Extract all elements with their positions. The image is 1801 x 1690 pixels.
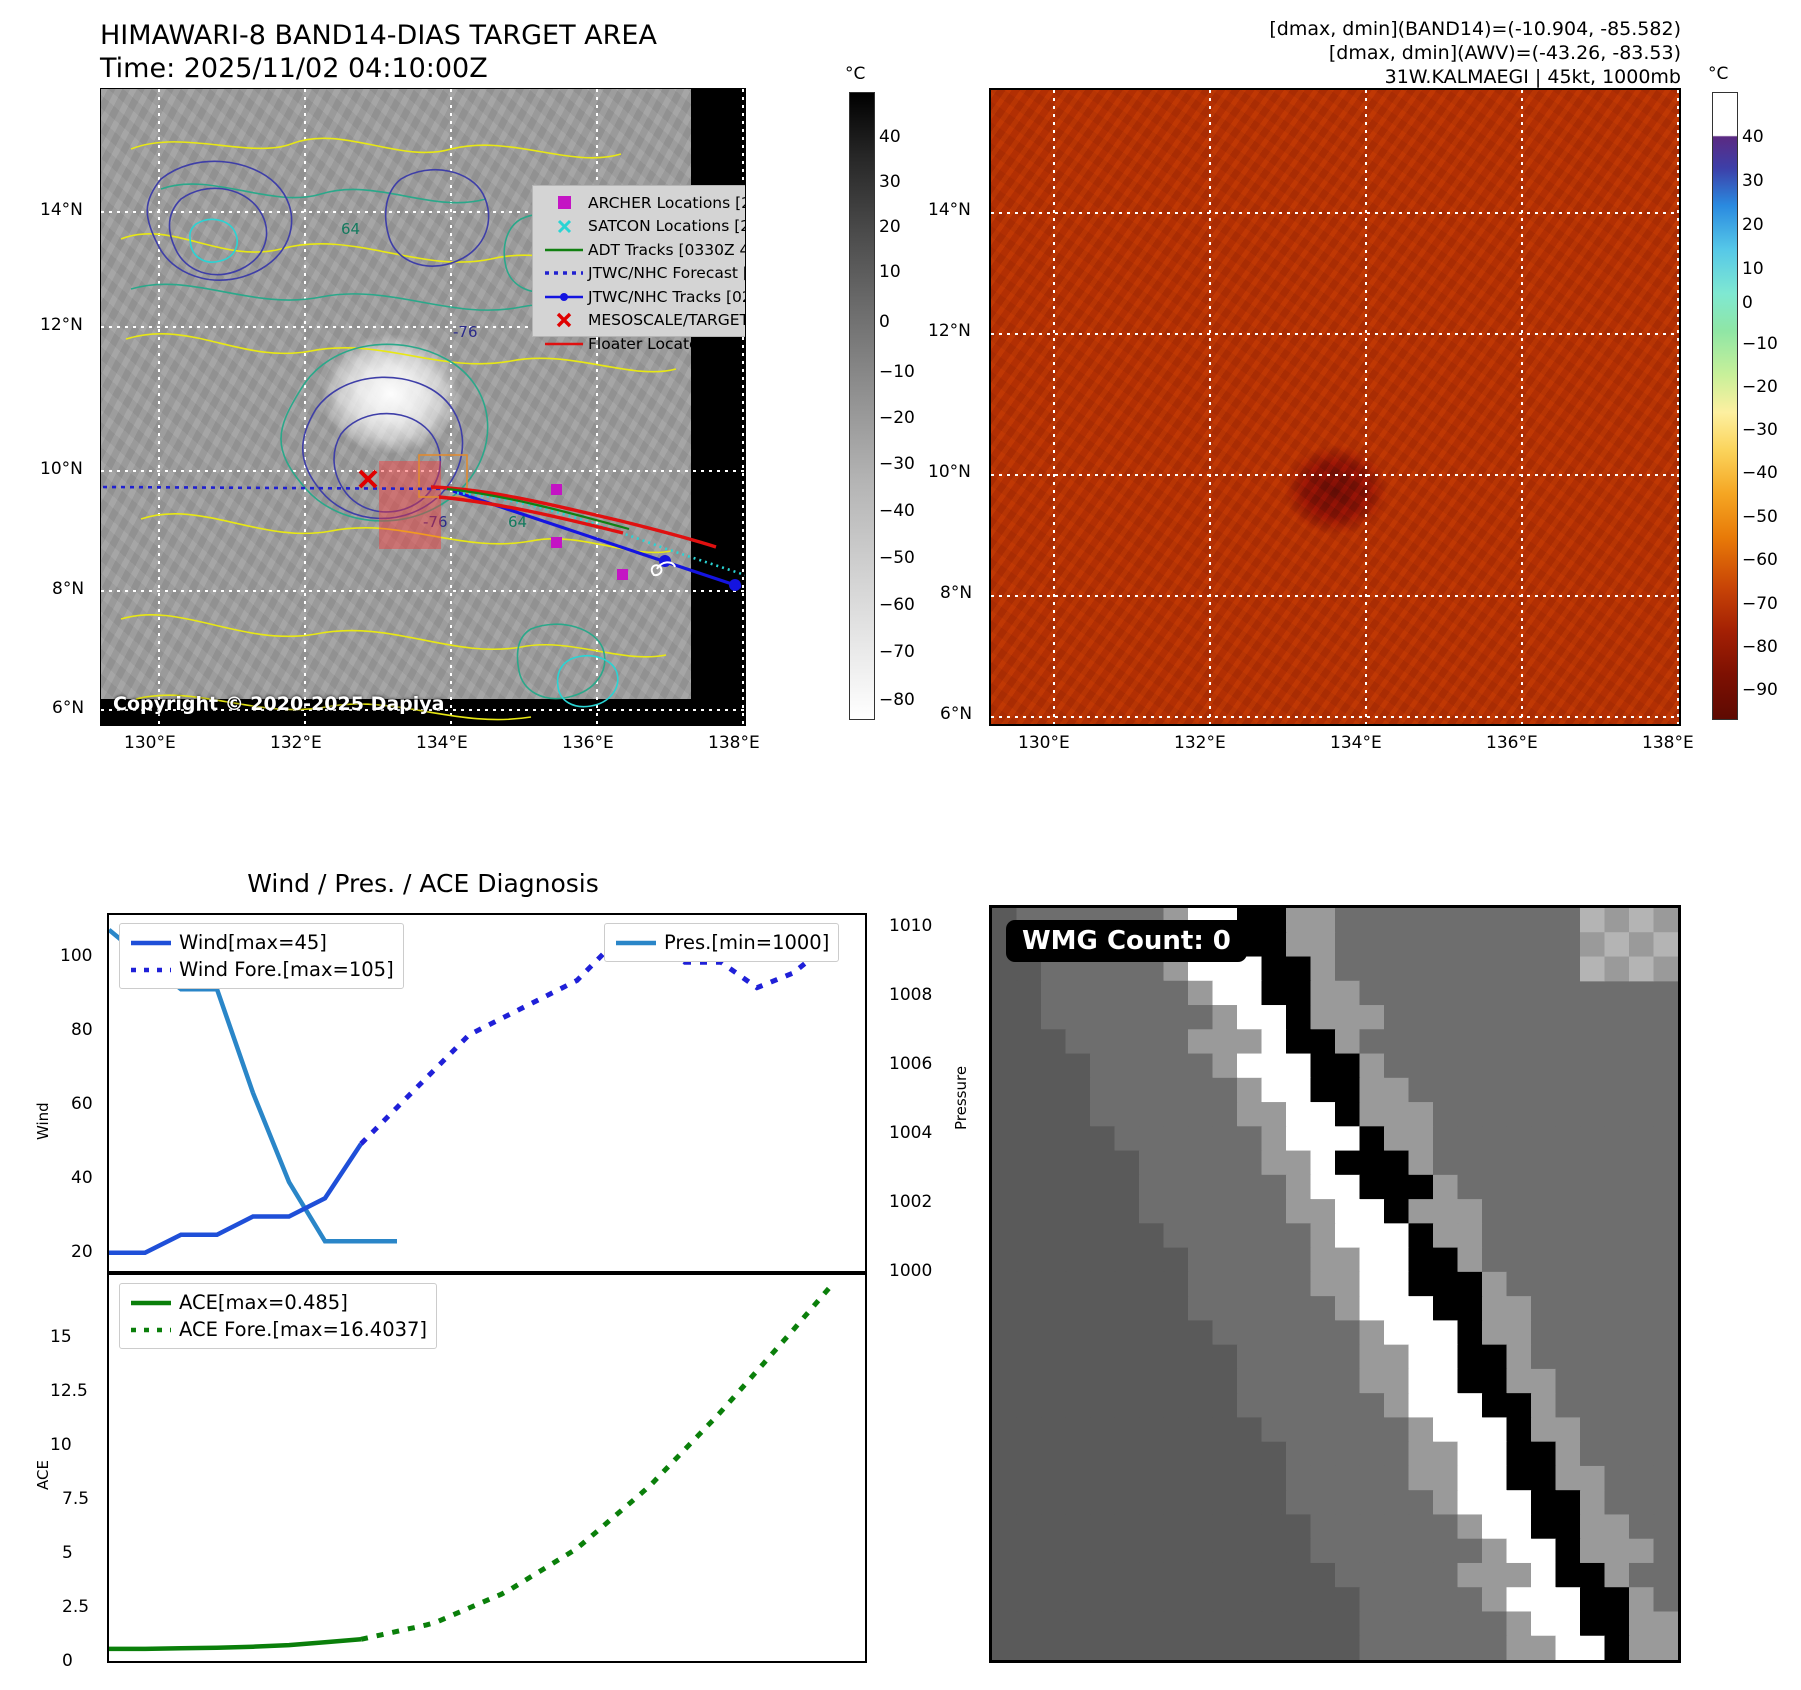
mesoscale-x-icon (540, 312, 588, 328)
ace-ytick-0: 0 (62, 1651, 73, 1671)
right-lat-tick-14n: 14°N (928, 200, 971, 220)
jtwc-forecast-dotted-icon (540, 268, 588, 278)
ir-greyscale-map[interactable]: -76 -76 64 64 (100, 88, 746, 726)
pres-ytick-1008: 1008 (889, 985, 932, 1005)
wind-ytick-60: 60 (71, 1094, 93, 1114)
archer-square-icon (540, 196, 588, 209)
ace-ytick-7_5: 7.5 (62, 1489, 89, 1509)
wind-chart-legend: Wind[max=45] Wind Fore.[max=105] (119, 923, 404, 989)
ace-chart-legend: ACE[max=0.485] ACE Fore.[max=16.4037] (119, 1283, 437, 1349)
color-ir-image (991, 90, 1679, 724)
wind-ytick-80: 80 (71, 1020, 93, 1040)
storm-info-text: 31W.KALMAEGI | 45kt, 1000mb (1385, 66, 1681, 88)
dashboard-root: HIMAWARI-8 BAND14-DIAS TARGET AREA Time:… (0, 0, 1801, 1690)
left-lat-tick-10n: 10°N (40, 459, 83, 479)
grey-cb-tick-m80: −80 (879, 690, 915, 710)
color-cb-tick-m80: −80 (1742, 637, 1778, 657)
legend-label-jtwc-forecast: JTWC/NHC Forecast [02/0000Z] (588, 264, 746, 282)
right-lat-tick-8n: 8°N (940, 583, 972, 603)
left-lon-tick-132e: 132°E (270, 733, 322, 753)
grey-cb-tick-m40: −40 (879, 501, 915, 521)
map-legend: ARCHER Locations [2140Z] SATCON Location… (532, 185, 746, 337)
page-title: HIMAWARI-8 BAND14-DIAS TARGET AREA (100, 20, 657, 51)
legend-label-floater: Floater Locater (588, 335, 705, 353)
color-colorbar-unit: °C (1708, 64, 1728, 84)
pres-ytick-1004: 1004 (889, 1123, 932, 1143)
right-lat-tick-6n: 6°N (940, 704, 972, 724)
wind-forecast-dotted-icon (129, 965, 179, 975)
grey-cb-tick-0: 0 (879, 312, 890, 332)
legend-label-mesoscale: MESOSCALE/TARGET Location (588, 311, 746, 329)
legend-item-mesoscale[interactable]: MESOSCALE/TARGET Location (540, 309, 746, 333)
legend-item-wind-forecast[interactable]: Wind Fore.[max=105] (129, 956, 394, 983)
right-lat-tick-10n: 10°N (928, 462, 971, 482)
grey-cb-tick-m60: −60 (879, 595, 915, 615)
pressure-chart-legend: Pres.[min=1000] (604, 923, 839, 962)
color-cb-tick-20: 20 (1742, 215, 1764, 235)
jtwc-tracks-line-icon (540, 291, 588, 303)
ace-ytick-12_5: 12.5 (50, 1381, 88, 1401)
color-cb-tick-m10: −10 (1742, 334, 1778, 354)
wmg-image (992, 908, 1678, 1660)
left-lon-tick-136e: 136°E (562, 733, 614, 753)
pressure-line-icon (614, 938, 664, 948)
legend-item-ace-forecast[interactable]: ACE Fore.[max=16.4037] (129, 1316, 427, 1343)
color-cb-tick-0: 0 (1742, 293, 1753, 313)
legend-label-wind: Wind[max=45] (179, 931, 327, 954)
grey-cb-tick-10: 10 (879, 262, 901, 282)
right-lat-tick-12n: 12°N (928, 321, 971, 341)
wind-ytick-20: 20 (71, 1242, 93, 1262)
left-lon-tick-130e: 130°E (124, 733, 176, 753)
copyright-text: Copyright © 2020-2025 Dapiya (113, 693, 444, 715)
legend-item-ace[interactable]: ACE[max=0.485] (129, 1289, 427, 1316)
left-lat-tick-8n: 8°N (52, 579, 84, 599)
legend-label-archer: ARCHER Locations [2140Z] (588, 194, 746, 212)
grey-cb-tick-m30: −30 (879, 454, 915, 474)
left-lat-tick-12n: 12°N (40, 315, 83, 335)
adt-line-icon (540, 245, 588, 255)
grey-cb-tick-m50: −50 (879, 548, 915, 568)
pres-ytick-1010: 1010 (889, 916, 932, 936)
wind-ytick-100: 100 (60, 946, 92, 966)
diagnosis-title: Wind / Pres. / ACE Diagnosis (100, 869, 746, 898)
wmg-panel[interactable]: WMG Count: 0 (989, 905, 1681, 1663)
color-cb-tick-30: 30 (1742, 171, 1764, 191)
color-enhanced-map[interactable] (989, 88, 1681, 726)
wind-line-icon (129, 938, 179, 948)
legend-label-pressure: Pres.[min=1000] (664, 931, 829, 954)
ace-line-icon (129, 1298, 179, 1308)
legend-label-jtwc-tracks: JTWC/NHC Tracks [02/0000Z] (588, 288, 746, 306)
color-cb-tick-m50: −50 (1742, 507, 1778, 527)
left-lon-tick-134e: 134°E (416, 733, 468, 753)
color-cb-tick-40: 40 (1742, 127, 1764, 147)
ace-ytick-15: 15 (50, 1327, 72, 1347)
color-cb-tick-m30: −30 (1742, 420, 1778, 440)
ace-ytick-5: 5 (62, 1543, 73, 1563)
svg-text:-76: -76 (453, 323, 478, 341)
legend-item-jtwc-forecast[interactable]: JTWC/NHC Forecast [02/0000Z] (540, 262, 746, 286)
grey-cb-tick-30: 30 (879, 172, 901, 192)
pres-ytick-1002: 1002 (889, 1192, 932, 1212)
page-time: Time: 2025/11/02 04:10:00Z (100, 53, 488, 84)
left-lon-tick-138e: 138°E (708, 733, 760, 753)
right-lon-tick-132e: 132°E (1174, 733, 1226, 753)
pres-ytick-1006: 1006 (889, 1054, 932, 1074)
grey-colorbar-unit: °C (845, 64, 865, 84)
color-cb-tick-m20: −20 (1742, 377, 1778, 397)
ace-forecast-dotted-icon (129, 1325, 179, 1335)
legend-label-satcon: SATCON Locations [2320Z 39 1003] (588, 217, 746, 235)
legend-item-archer[interactable]: ARCHER Locations [2140Z] (540, 191, 746, 215)
wind-axis-label: Wind (34, 1102, 52, 1140)
dmax-awv-text: [dmax, dmin](AWV)=(-43.26, -83.53) (1329, 42, 1681, 64)
ace-axis-label: ACE (34, 1460, 52, 1490)
wind-ytick-40: 40 (71, 1168, 93, 1188)
pres-ytick-1000: 1000 (889, 1261, 932, 1281)
legend-item-adt[interactable]: ADT Tracks [0330Z 47.0 1002.9] (540, 238, 746, 262)
legend-label-wind-forecast: Wind Fore.[max=105] (179, 958, 394, 981)
legend-item-wind[interactable]: Wind[max=45] (129, 929, 394, 956)
color-cb-tick-m40: −40 (1742, 463, 1778, 483)
legend-label-ace: ACE[max=0.485] (179, 1291, 348, 1314)
grey-colorbar (849, 92, 875, 720)
legend-label-adt: ADT Tracks [0330Z 47.0 1002.9] (588, 241, 746, 259)
right-lon-tick-130e: 130°E (1018, 733, 1070, 753)
color-cb-tick-m60: −60 (1742, 550, 1778, 570)
svg-text:64: 64 (341, 220, 360, 238)
legend-item-satcon[interactable]: SATCON Locations [2320Z 39 1003] (540, 215, 746, 239)
satcon-x-icon (540, 219, 588, 234)
color-cb-tick-m70: −70 (1742, 594, 1778, 614)
ace-ytick-10: 10 (50, 1435, 72, 1455)
grey-cb-tick-40: 40 (879, 127, 901, 147)
right-lon-tick-136e: 136°E (1486, 733, 1538, 753)
dmax-band14-text: [dmax, dmin](BAND14)=(-10.904, -85.582) (1269, 18, 1681, 40)
color-colorbar (1712, 92, 1738, 720)
left-lat-tick-14n: 14°N (40, 200, 83, 220)
grey-cb-tick-20: 20 (879, 217, 901, 237)
grey-cb-tick-m70: −70 (879, 642, 915, 662)
grey-cb-tick-m20: −20 (879, 408, 915, 428)
wmg-count-badge: WMG Count: 0 (1006, 920, 1247, 962)
color-cb-tick-m90: −90 (1742, 680, 1778, 700)
legend-item-pressure[interactable]: Pres.[min=1000] (614, 929, 829, 956)
ace-ytick-2_5: 2.5 (62, 1597, 89, 1617)
left-lat-tick-6n: 6°N (52, 698, 84, 718)
color-cb-tick-10: 10 (1742, 259, 1764, 279)
pressure-axis-label: Pressure (952, 1066, 970, 1130)
floater-line-icon (540, 339, 588, 349)
legend-item-floater[interactable]: Floater Locater (540, 332, 746, 356)
legend-item-jtwc-tracks[interactable]: JTWC/NHC Tracks [02/0000Z] (540, 285, 746, 309)
right-lon-tick-134e: 134°E (1330, 733, 1382, 753)
legend-label-ace-forecast: ACE Fore.[max=16.4037] (179, 1318, 427, 1341)
right-lon-tick-138e: 138°E (1642, 733, 1694, 753)
grey-cb-tick-m10: −10 (879, 362, 915, 382)
